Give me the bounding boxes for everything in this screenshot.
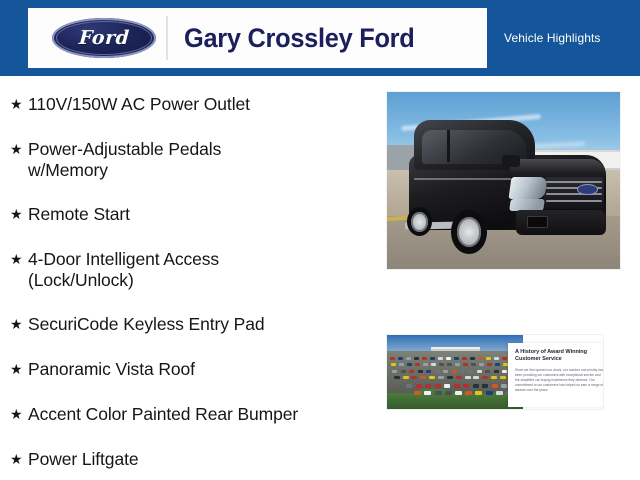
star-bullet-icon: ★ — [10, 404, 28, 425]
list-item-label: SecuriCode Keyless Entry Pad — [28, 314, 264, 335]
suv-ford-badge-icon — [577, 184, 598, 195]
star-bullet-icon: ★ — [10, 359, 28, 380]
suv-front-rim — [457, 217, 481, 247]
award-card-title: A History of Award Winning Customer Serv… — [515, 349, 604, 363]
ford-logo: Ford — [42, 14, 166, 62]
suv-front-wheel — [451, 210, 487, 254]
list-item: ★ Panoramic Vista Roof — [10, 359, 195, 380]
list-item: ★ Power Liftgate — [10, 449, 138, 470]
list-item-label: Panoramic Vista Roof — [28, 359, 195, 380]
list-item-label: 4-Door Intelligent Access (Lock/Unlock) — [28, 249, 219, 291]
award-info-card: A History of Award Winning Customer Serv… — [508, 343, 604, 407]
dealer-name: Gary Crossley Ford — [184, 8, 414, 68]
star-bullet-icon: ★ — [10, 249, 28, 270]
aerial-car-rows — [387, 335, 523, 409]
star-bullet-icon: ★ — [10, 204, 28, 225]
section-title: Vehicle Highlights — [504, 0, 640, 76]
award-card-body: Since we first opened our doors, our num… — [515, 368, 604, 393]
suv-headlight — [508, 177, 547, 199]
star-bullet-icon: ★ — [10, 139, 28, 160]
list-item-label: Power-Adjustable Pedals w/Memory — [28, 139, 221, 181]
suv-side-mirror — [502, 155, 521, 167]
list-item-label: 110V/150W AC Power Outlet — [28, 94, 250, 115]
star-bullet-icon: ★ — [10, 449, 28, 470]
vehicle-highlights-slide: Ford Gary Crossley Ford Vehicle Highligh… — [0, 0, 640, 480]
dealer-branding-card: Ford Gary Crossley Ford — [28, 8, 487, 68]
ford-oval-icon: Ford — [52, 18, 156, 58]
list-item: ★ SecuriCode Keyless Entry Pad — [10, 314, 264, 335]
list-item-label: Accent Color Painted Rear Bumper — [28, 404, 298, 425]
suv-rear-wheel — [407, 207, 432, 236]
star-bullet-icon: ★ — [10, 94, 28, 115]
header-divider — [166, 16, 168, 60]
suv-lower-headlight — [509, 199, 544, 211]
dealership-photo[interactable]: A History of Award Winning Customer Serv… — [386, 334, 604, 410]
list-item-label: Remote Start — [28, 204, 130, 225]
suv-rear-rim — [411, 212, 428, 232]
list-item: ★ Remote Start — [10, 204, 130, 225]
list-item: ★ Accent Color Painted Rear Bumper — [10, 404, 298, 425]
dealership-aerial-image — [387, 335, 523, 409]
list-item: ★ 4-Door Intelligent Access (Lock/Unlock… — [10, 249, 219, 291]
suv-bumper-vent — [527, 216, 548, 228]
list-item-label: Power Liftgate — [28, 449, 138, 470]
suv-illustration — [401, 111, 611, 256]
ford-logo-wordmark: Ford — [78, 27, 130, 49]
star-bullet-icon: ★ — [10, 314, 28, 335]
vehicle-photo[interactable] — [386, 91, 621, 270]
suv-door-pillar — [447, 130, 450, 162]
suv-beltline-trim — [414, 178, 515, 180]
list-item: ★ 110V/150W AC Power Outlet — [10, 94, 250, 115]
header-banner: Ford Gary Crossley Ford Vehicle Highligh… — [0, 0, 640, 76]
list-item: ★ Power-Adjustable Pedals w/Memory — [10, 139, 221, 181]
